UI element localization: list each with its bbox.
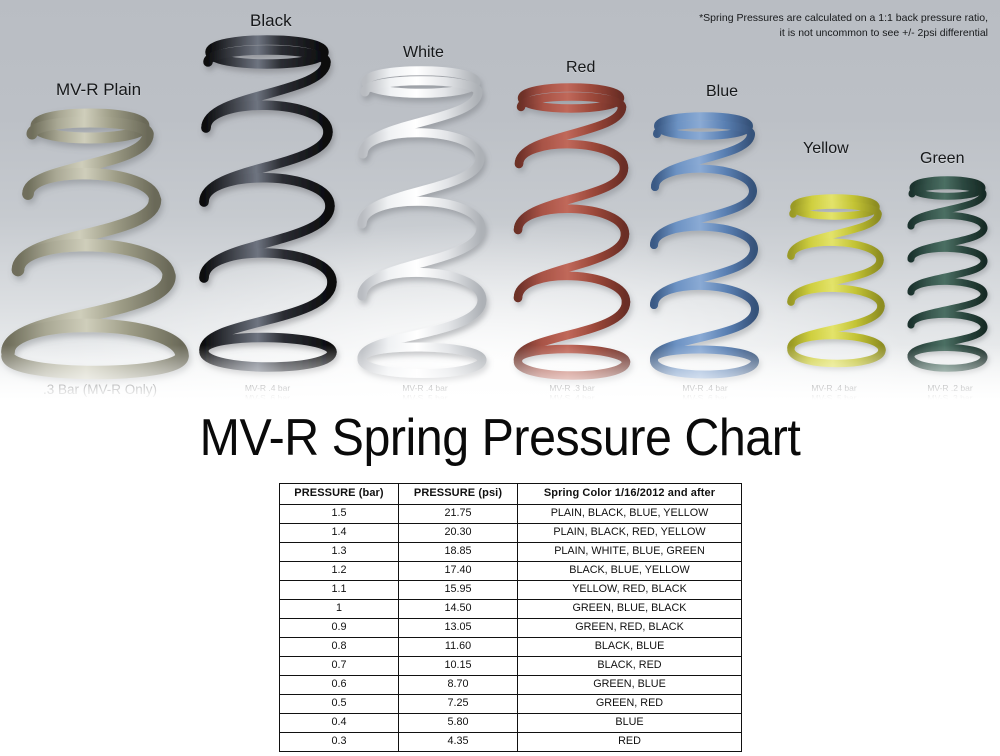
cell-pressure-psi: 15.95	[399, 581, 518, 600]
spring-image-yellow	[782, 190, 890, 384]
table-header-pressure-psi: PRESSURE (psi)	[399, 484, 518, 505]
spring-spec-line1: MV-R .4 bar	[682, 383, 727, 393]
cell-spring-color: BLACK, BLUE	[518, 638, 742, 657]
cell-pressure-bar: 0.3	[280, 733, 399, 752]
cell-pressure-bar: 1.2	[280, 562, 399, 581]
cell-pressure-psi: 17.40	[399, 562, 518, 581]
spring-spec-line1: MV-R .2 bar	[927, 383, 972, 393]
spring-image-mv-r-plain	[0, 108, 202, 380]
spring-label-red: Red	[566, 59, 595, 77]
cell-pressure-psi: 5.80	[399, 714, 518, 733]
cell-pressure-psi: 14.50	[399, 600, 518, 619]
table-row: 1.521.75PLAIN, BLACK, BLUE, YELLOW	[280, 505, 742, 524]
cell-pressure-bar: 1.1	[280, 581, 399, 600]
cell-spring-color: GREEN, RED	[518, 695, 742, 714]
cell-pressure-bar: 0.4	[280, 714, 399, 733]
cell-spring-color: GREEN, RED, BLACK	[518, 619, 742, 638]
cell-spring-color: BLACK, BLUE, YELLOW	[518, 562, 742, 581]
pressure-table-wrapper: PRESSURE (bar) PRESSURE (psi) Spring Col…	[279, 483, 742, 752]
table-header-spring-color: Spring Color 1/16/2012 and after	[518, 484, 742, 505]
table-row: 0.811.60BLACK, BLUE	[280, 638, 742, 657]
spring-spec-line2: MV-S .4 bar	[508, 393, 636, 403]
table-row: 1.115.95YELLOW, RED, BLACK	[280, 581, 742, 600]
cell-pressure-bar: 0.7	[280, 657, 399, 676]
cell-pressure-bar: 0.8	[280, 638, 399, 657]
spring-spec-line2: MV-S .6 bar	[641, 393, 769, 403]
spring-spec-line2: MV-S .5 bar	[770, 393, 898, 403]
spring-spec-line1: MV-R .3 bar	[549, 383, 594, 393]
pressure-table: PRESSURE (bar) PRESSURE (psi) Spring Col…	[279, 483, 742, 752]
cell-pressure-bar: 1.3	[280, 543, 399, 562]
cell-pressure-psi: 20.30	[399, 524, 518, 543]
cell-spring-color: BLUE	[518, 714, 742, 733]
spring-label-mv-r-plain: MV-R Plain	[56, 80, 141, 100]
cell-spring-color: RED	[518, 733, 742, 752]
cell-pressure-psi: 21.75	[399, 505, 518, 524]
spring-image-green	[902, 172, 994, 384]
table-row: 0.68.70GREEN, BLUE	[280, 676, 742, 695]
spring-spec-line1: MV-R .4 bar	[402, 383, 447, 393]
cell-pressure-psi: 8.70	[399, 676, 518, 695]
spring-spec-mv-r-plain: .3 Bar (MV-R Only)	[0, 382, 200, 398]
cell-pressure-psi: 18.85	[399, 543, 518, 562]
cell-spring-color: YELLOW, RED, BLACK	[518, 581, 742, 600]
cell-spring-color: PLAIN, WHITE, BLUE, GREEN	[518, 543, 742, 562]
spring-spec-line1: .3 Bar (MV-R Only)	[43, 382, 157, 397]
cell-pressure-psi: 10.15	[399, 657, 518, 676]
cell-spring-color: PLAIN, BLACK, RED, YELLOW	[518, 524, 742, 543]
spring-pressure-chart-page: *Spring Pressures are calculated on a 1:…	[0, 0, 1000, 756]
cell-pressure-bar: 0.6	[280, 676, 399, 695]
cell-spring-color: BLACK, RED	[518, 657, 742, 676]
cell-spring-color: GREEN, BLUE	[518, 676, 742, 695]
pressure-table-body: 1.521.75PLAIN, BLACK, BLUE, YELLOW1.420.…	[280, 505, 742, 752]
spring-image-black	[192, 32, 342, 380]
spring-label-yellow: Yellow	[803, 140, 849, 158]
spring-spec-blue: MV-R .4 bar MV-S .6 bar	[641, 383, 769, 403]
spring-image-blue	[645, 107, 765, 385]
spring-spec-white: MV-R .4 bar MV-S .5 bar	[360, 383, 490, 403]
spring-spec-green: MV-R .2 bar MV-S .3 bar	[886, 383, 1000, 403]
cell-spring-color: PLAIN, BLACK, BLUE, YELLOW	[518, 505, 742, 524]
table-row: 1.217.40BLACK, BLUE, YELLOW	[280, 562, 742, 581]
table-row: 114.50GREEN, BLUE, BLACK	[280, 600, 742, 619]
spring-spec-line2: MV-S .3 bar	[886, 393, 1000, 403]
spring-spec-line1: MV-R .4 bar	[811, 383, 856, 393]
spring-photo-area: *Spring Pressures are calculated on a 1:…	[0, 0, 1000, 415]
cell-pressure-bar: 1.4	[280, 524, 399, 543]
cell-spring-color: GREEN, BLUE, BLACK	[518, 600, 742, 619]
cell-pressure-psi: 11.60	[399, 638, 518, 657]
table-header-pressure-bar: PRESSURE (bar)	[280, 484, 399, 505]
spring-spec-line2: MV-S .5 bar	[360, 393, 490, 403]
table-row: 0.34.35RED	[280, 733, 742, 752]
spring-label-white: White	[403, 44, 444, 62]
cell-pressure-bar: 0.5	[280, 695, 399, 714]
spring-label-green: Green	[920, 150, 964, 168]
table-row: 0.57.25GREEN, RED	[280, 695, 742, 714]
cell-pressure-psi: 13.05	[399, 619, 518, 638]
spring-spec-yellow: MV-R .4 bar MV-S .5 bar	[770, 383, 898, 403]
table-row: 0.913.05GREEN, RED, BLACK	[280, 619, 742, 638]
table-row: 1.318.85PLAIN, WHITE, BLUE, GREEN	[280, 543, 742, 562]
spring-spec-black: MV-R .4 bar MV-S .6 bar	[200, 383, 335, 403]
spring-spec-red: MV-R .3 bar MV-S .4 bar	[508, 383, 636, 403]
cell-pressure-psi: 4.35	[399, 733, 518, 752]
cell-pressure-psi: 7.25	[399, 695, 518, 714]
table-header-row: PRESSURE (bar) PRESSURE (psi) Spring Col…	[280, 484, 742, 505]
cell-pressure-bar: 0.9	[280, 619, 399, 638]
cell-pressure-bar: 1.5	[280, 505, 399, 524]
spring-image-white	[352, 62, 492, 384]
spring-label-blue: Blue	[706, 83, 738, 101]
table-row: 0.45.80BLUE	[280, 714, 742, 733]
spring-spec-line1: MV-R .4 bar	[245, 383, 290, 393]
spring-image-red	[508, 78, 636, 386]
page-title: MV-R Spring Pressure Chart	[35, 408, 965, 468]
spring-label-black: Black	[250, 11, 292, 31]
pressure-disclaimer-note: *Spring Pressures are calculated on a 1:…	[658, 11, 988, 41]
spring-spec-line2: MV-S .6 bar	[200, 393, 335, 403]
cell-pressure-bar: 1	[280, 600, 399, 619]
table-row: 1.420.30PLAIN, BLACK, RED, YELLOW	[280, 524, 742, 543]
table-row: 0.710.15BLACK, RED	[280, 657, 742, 676]
